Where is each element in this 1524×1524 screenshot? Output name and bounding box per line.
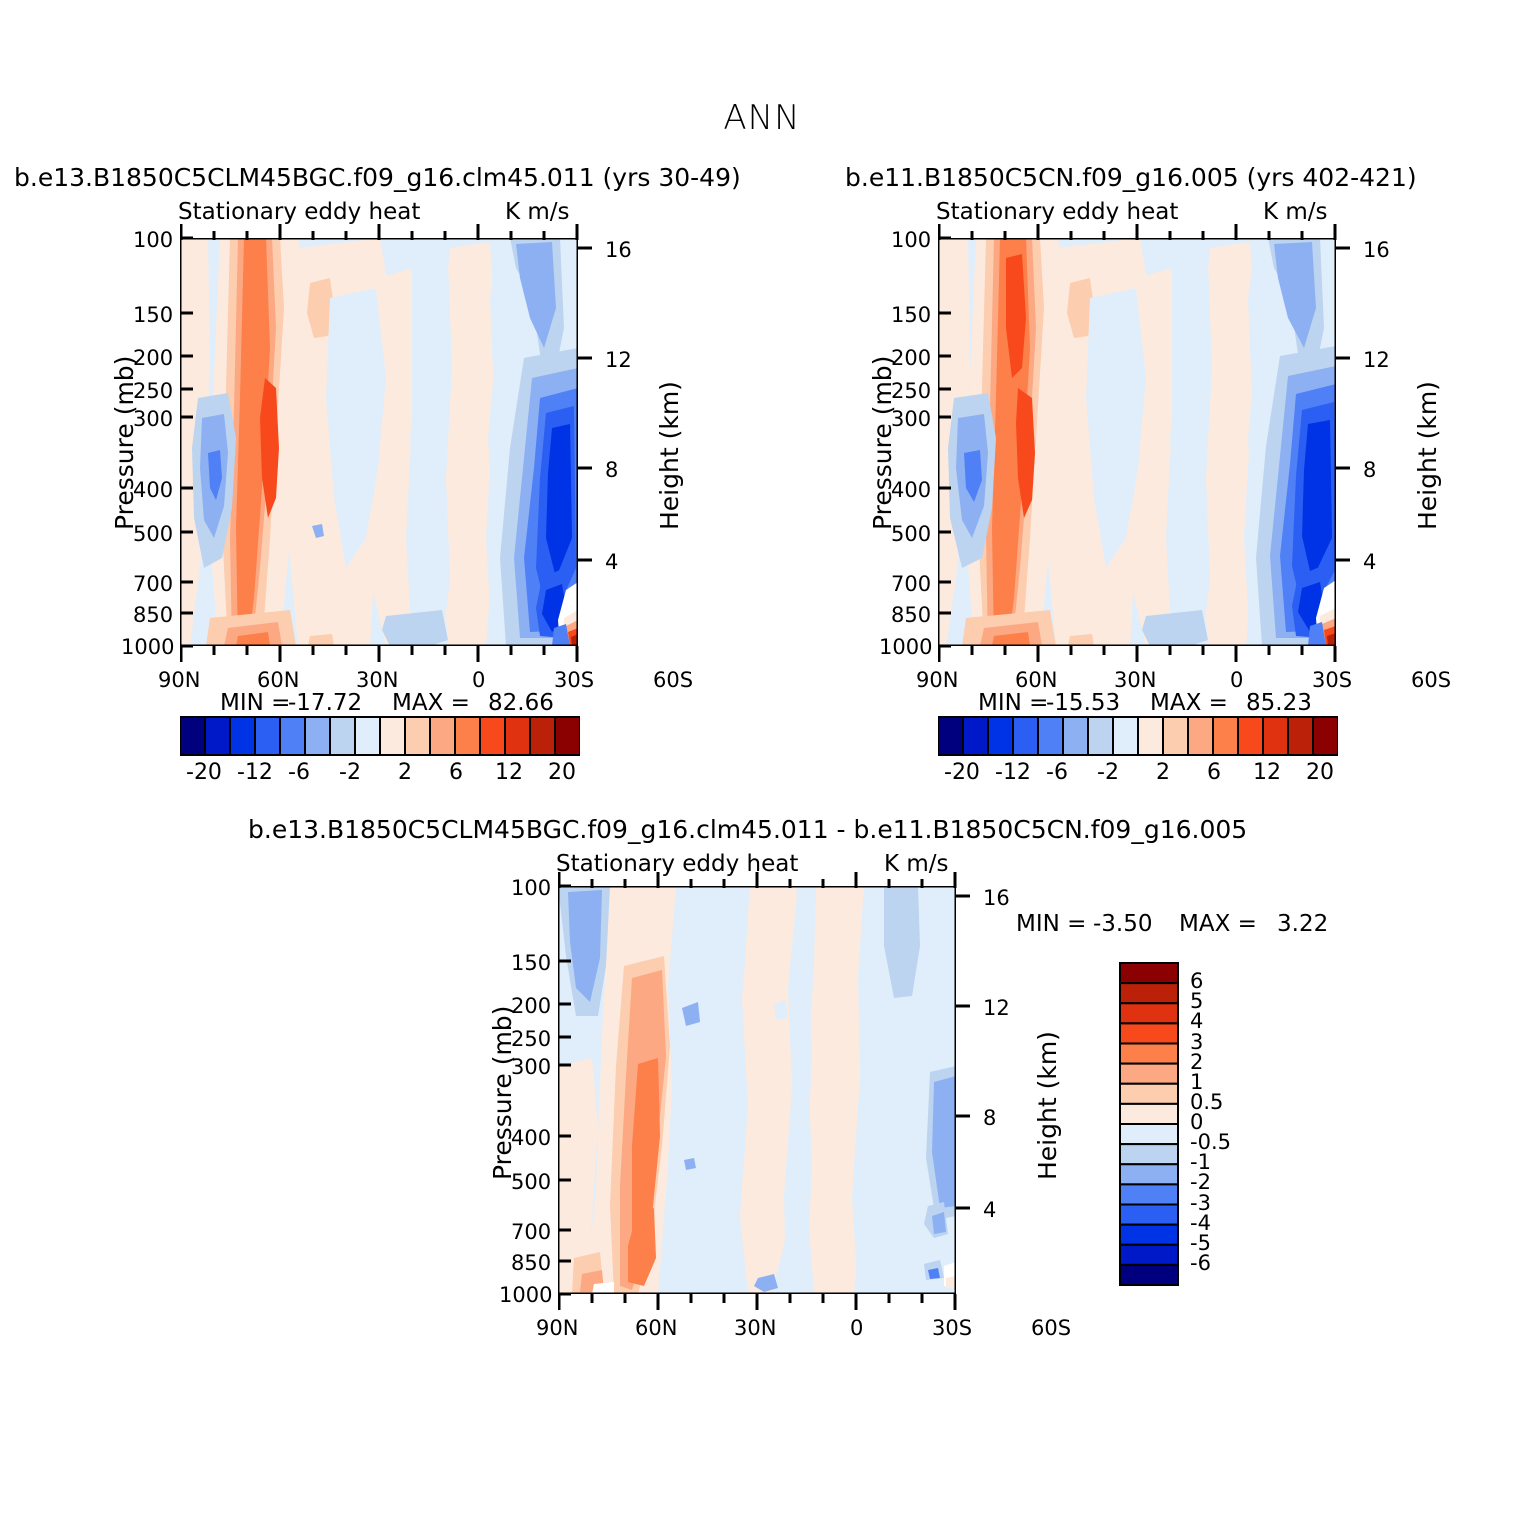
min-label-top-right: MIN = <box>978 690 1048 716</box>
y2tick-difference-0: 16 <box>983 886 1010 910</box>
min-label-difference: MIN = <box>1016 911 1086 937</box>
y2tick-difference-1: 12 <box>983 996 1010 1020</box>
ytick-top-right-8: 850 <box>891 603 931 627</box>
ytick-top-left-2: 200 <box>133 346 173 370</box>
cb-left-label-6: 12 <box>495 760 523 785</box>
y2tick-top-right-1: 12 <box>1363 348 1390 372</box>
max-value-difference: 3.22 <box>1277 911 1328 937</box>
y2tick-top-left-0: 16 <box>605 238 632 262</box>
ytick-top-right-9: 1000 <box>879 635 932 659</box>
panel-title-top-left: b.e13.B1850C5CLM45BGC.f09_g16.clm45.011 … <box>14 163 741 192</box>
cb-right-label-2: -6 <box>1046 760 1068 785</box>
xtick-top-left-3: 0 <box>472 668 485 692</box>
cb-left-label-4: 2 <box>398 760 412 785</box>
max-value-top-right: 85.23 <box>1246 690 1312 716</box>
colorbar-top-right[interactable] <box>938 715 1338 757</box>
ytick-difference-1: 150 <box>511 951 551 975</box>
panel-title-top-right: b.e11.B1850C5CN.f09_g16.005 (yrs 402-421… <box>845 163 1417 192</box>
min-value-difference: -3.50 <box>1093 911 1153 937</box>
xtick-top-left-1: 60N <box>257 668 299 692</box>
ytick-difference-0: 100 <box>511 876 551 900</box>
ytick-top-left-9: 1000 <box>121 635 174 659</box>
axes-top-right <box>878 230 1398 660</box>
cb-left-label-7: 20 <box>548 760 576 785</box>
axes-difference <box>498 878 1018 1308</box>
max-label-top-left: MAX = <box>392 690 470 716</box>
xtick-top-right-5: 60S <box>1411 668 1451 692</box>
y2-axis-label-difference: Height (km) <box>1033 1031 1062 1180</box>
ytick-top-left-0: 100 <box>133 228 173 252</box>
colorbar-top-left[interactable] <box>180 715 580 757</box>
y2tick-top-left-2: 8 <box>605 458 618 482</box>
cb-left-label-2: -6 <box>288 760 310 785</box>
colorbar-difference[interactable] <box>1118 961 1180 1287</box>
ytick-top-left-1: 150 <box>133 303 173 327</box>
xtick-top-left-4: 30S <box>554 668 594 692</box>
xtick-difference-5: 60S <box>1031 1316 1071 1340</box>
y2tick-top-right-0: 16 <box>1363 238 1390 262</box>
xtick-top-right-3: 0 <box>1230 668 1243 692</box>
cb-right-label-6: 12 <box>1253 760 1281 785</box>
ytick-top-right-0: 100 <box>891 228 931 252</box>
bottom-ticks-top-right <box>938 646 1338 664</box>
cb-right-label-0: -20 <box>944 760 980 785</box>
bottom-ticks-difference <box>558 1294 958 1312</box>
ytick-top-left-6: 500 <box>133 522 173 546</box>
ytick-difference-3: 250 <box>511 1027 551 1051</box>
ytick-difference-9: 1000 <box>499 1283 552 1307</box>
ytick-top-right-3: 250 <box>891 379 931 403</box>
cb-right-label-5: 6 <box>1207 760 1221 785</box>
top-ticks-difference <box>558 870 958 888</box>
y2tick-top-right-3: 4 <box>1363 550 1376 574</box>
xtick-top-left-2: 30N <box>356 668 398 692</box>
xtick-top-right-0: 90N <box>916 668 958 692</box>
min-label-top-left: MIN = <box>220 690 290 716</box>
top-ticks-top-right <box>938 222 1338 240</box>
y2tick-top-left-1: 12 <box>605 348 632 372</box>
ytick-top-right-4: 300 <box>891 407 931 431</box>
y2tick-difference-2: 8 <box>983 1106 996 1130</box>
xtick-difference-0: 90N <box>536 1316 578 1340</box>
ytick-top-left-5: 400 <box>133 478 173 502</box>
ytick-top-left-8: 850 <box>133 603 173 627</box>
xtick-top-left-5: 60S <box>653 668 693 692</box>
ytick-difference-2: 200 <box>511 994 551 1018</box>
bottom-ticks-top-left <box>180 646 580 664</box>
cb-left-label-5: 6 <box>449 760 463 785</box>
ytick-difference-6: 500 <box>511 1170 551 1194</box>
xtick-top-right-2: 30N <box>1114 668 1156 692</box>
cb-vertical-label-14: -6 <box>1190 1251 1211 1275</box>
page-title: ANN <box>0 98 1524 138</box>
y2tick-top-right-2: 8 <box>1363 458 1376 482</box>
ytick-difference-7: 700 <box>511 1220 551 1244</box>
xtick-top-right-4: 30S <box>1312 668 1352 692</box>
ytick-difference-4: 300 <box>511 1055 551 1079</box>
ytick-difference-5: 400 <box>511 1126 551 1150</box>
min-value-top-right: -15.53 <box>1046 690 1120 716</box>
ytick-top-right-6: 500 <box>891 522 931 546</box>
cb-left-label-3: -2 <box>339 760 361 785</box>
cb-right-label-1: -12 <box>995 760 1031 785</box>
cb-left-label-0: -20 <box>186 760 222 785</box>
max-value-top-left: 82.66 <box>488 690 554 716</box>
max-label-top-right: MAX = <box>1150 690 1228 716</box>
y2tick-difference-3: 4 <box>983 1198 996 1222</box>
ytick-top-left-3: 250 <box>133 379 173 403</box>
y2tick-top-left-3: 4 <box>605 550 618 574</box>
xtick-difference-3: 0 <box>850 1316 863 1340</box>
ytick-difference-8: 850 <box>511 1251 551 1275</box>
ytick-top-left-7: 700 <box>133 572 173 596</box>
axes-top-left <box>120 230 640 660</box>
cb-right-label-3: -2 <box>1097 760 1119 785</box>
max-label-difference: MAX = <box>1179 911 1257 937</box>
top-ticks-top-left <box>180 222 580 240</box>
xtick-difference-2: 30N <box>734 1316 776 1340</box>
xtick-difference-4: 30S <box>932 1316 972 1340</box>
cb-right-label-7: 20 <box>1306 760 1334 785</box>
ytick-top-right-7: 700 <box>891 572 931 596</box>
panel-title-difference: b.e13.B1850C5CLM45BGC.f09_g16.clm45.011 … <box>248 815 1247 844</box>
xtick-top-left-0: 90N <box>158 668 200 692</box>
ytick-top-left-4: 300 <box>133 407 173 431</box>
xtick-top-right-1: 60N <box>1015 668 1057 692</box>
cb-left-label-1: -12 <box>237 760 273 785</box>
ytick-top-right-1: 150 <box>891 303 931 327</box>
min-value-top-left: -17.72 <box>288 690 362 716</box>
ytick-top-right-5: 400 <box>891 478 931 502</box>
ytick-top-right-2: 200 <box>891 346 931 370</box>
y2-axis-label-top-right: Height (km) <box>1413 381 1442 530</box>
cb-right-label-4: 2 <box>1156 760 1170 785</box>
y2-axis-label-top-left: Height (km) <box>655 381 684 530</box>
xtick-difference-1: 60N <box>635 1316 677 1340</box>
